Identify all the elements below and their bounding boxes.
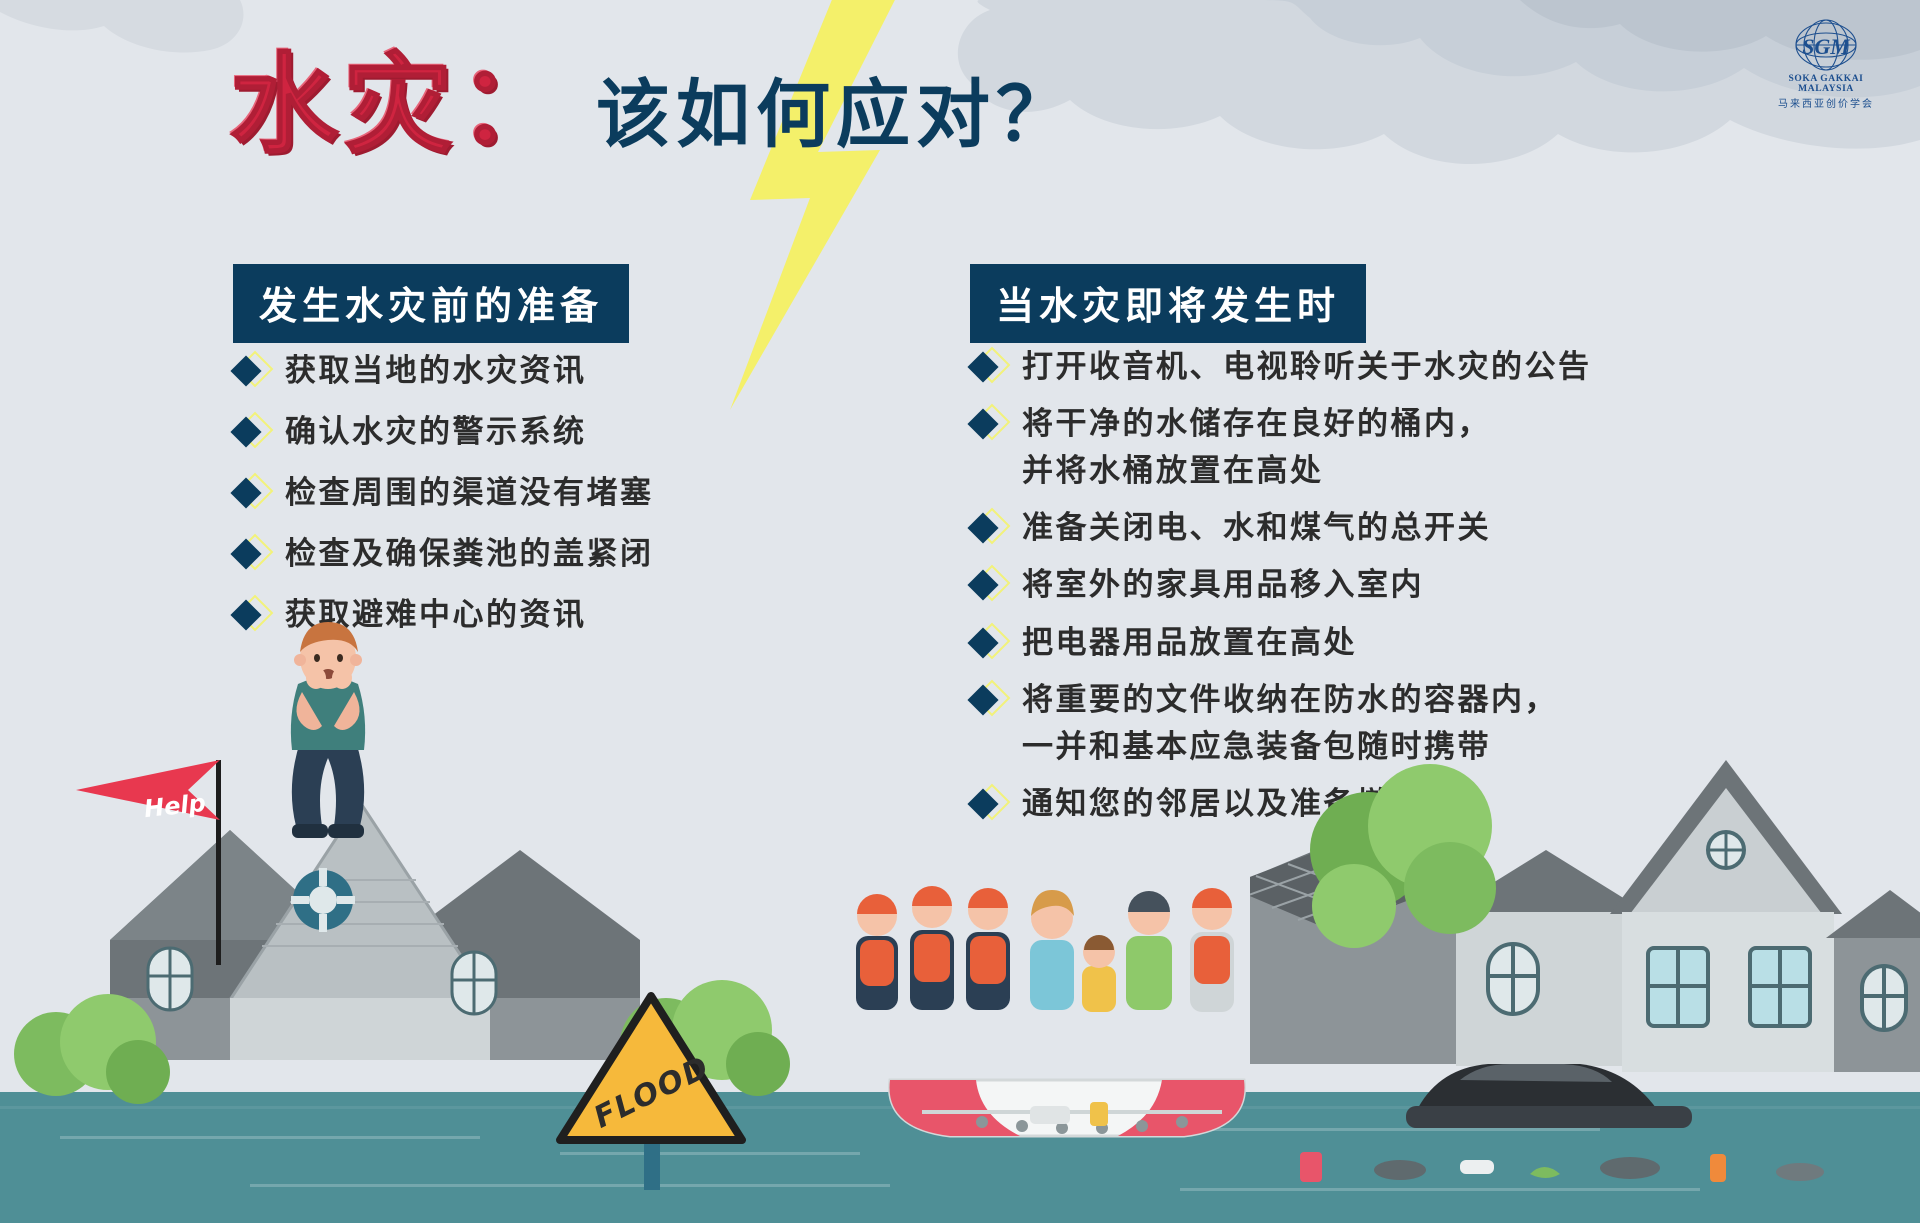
diamond-bullet-icon [233,537,267,571]
checklist-item-line: 将干净的水储存在良好的桶内， [1022,406,1491,442]
checklist-item-label: 将干净的水储存在良好的桶内，并将水桶放置在高处 [1022,401,1491,495]
checklist-item: 准备关闭电、水和煤气的总开关 [970,505,1730,552]
checklist-item-label: 打开收音机、电视聆听关于水灾的公告 [1022,344,1592,391]
checklist-item-label: 检查周围的渠道没有堵塞 [285,470,654,517]
checklist-item-line: 将室外的家具用品移入室内 [1022,567,1424,603]
diamond-bullet-icon [970,683,1004,717]
title-subtitle: 该如何应对？ [596,78,1076,160]
checklist-item: 确认水灾的警示系统 [233,409,873,456]
checklist-item-label: 确认水灾的警示系统 [285,409,587,456]
flood-infographic-poster: SGM SOKA GAKKAI MALAYSIA 马来西亚创价学会 水灾： 该如… [0,0,1920,1223]
checklist-before-flood: 获取当地的水灾资讯确认水灾的警示系统检查周围的渠道没有堵塞检查及确保粪池的盖紧闭… [233,348,873,654]
floating-debris-icon [1280,1130,1880,1210]
checklist-item: 检查及确保粪池的盖紧闭 [233,531,873,578]
diamond-bullet-icon [970,407,1004,441]
poster-title: 水灾： 该如何应对？ [230,52,1076,160]
logo-name-en: SOKA GAKKAI MALAYSIA [1762,74,1890,94]
svg-text:SGM: SGM [1802,34,1851,59]
sgm-logo: SGM SOKA GAKKAI MALAYSIA 马来西亚创价学会 [1762,18,1890,110]
life-ring-icon [283,860,363,940]
checklist-item-line: 打开收音机、电视聆听关于水灾的公告 [1022,349,1592,385]
checklist-item-line: 并将水桶放置在高处 [1022,448,1491,495]
bush-icon [10,980,170,1110]
title-main: 水灾： [230,52,572,160]
tree-icon [1290,740,1510,990]
diamond-bullet-icon [233,476,267,510]
checklist-item-label: 获取当地的水灾资讯 [285,348,587,395]
stranded-person-icon [262,612,392,852]
checklist-item-line: 检查及确保粪池的盖紧闭 [285,536,654,572]
checklist-item-label: 准备关闭电、水和煤气的总开关 [1022,505,1491,552]
section-heading-during-flood: 当水灾即将发生时 [970,264,1366,343]
logo-name-cn: 马来西亚创价学会 [1762,95,1890,110]
diamond-bullet-icon [970,511,1004,545]
checklist-item-line: 获取当地的水灾资讯 [285,353,587,389]
section-heading-before-flood: 发生水灾前的准备 [233,264,629,343]
diamond-bullet-icon [970,568,1004,602]
checklist-item-line: 把电器用品放置在高处 [1022,625,1357,661]
checklist-item: 将室外的家具用品移入室内 [970,562,1730,609]
diamond-bullet-icon [970,626,1004,660]
diamond-bullet-icon [233,354,267,388]
diamond-bullet-icon [233,415,267,449]
checklist-item-label: 将室外的家具用品移入室内 [1022,562,1424,609]
sgm-monogram-icon: SGM [1787,18,1865,74]
checklist-item-label: 检查及确保粪池的盖紧闭 [285,531,654,578]
checklist-item-line: 检查周围的渠道没有堵塞 [285,475,654,511]
checklist-item: 将干净的水储存在良好的桶内，并将水桶放置在高处 [970,401,1730,495]
checklist-item-line: 准备关闭电、水和煤气的总开关 [1022,510,1491,546]
checklist-item-label: 把电器用品放置在高处 [1022,620,1357,667]
floating-debris-icon [1020,1090,1160,1140]
diamond-bullet-icon [970,787,1004,821]
checklist-item: 获取当地的水灾资讯 [233,348,873,395]
checklist-item: 把电器用品放置在高处 [970,620,1730,667]
checklist-item: 检查周围的渠道没有堵塞 [233,470,873,517]
diamond-bullet-icon [970,350,1004,384]
checklist-item-line: 确认水灾的警示系统 [285,414,587,450]
checklist-item: 打开收音机、电视聆听关于水灾的公告 [970,344,1730,391]
